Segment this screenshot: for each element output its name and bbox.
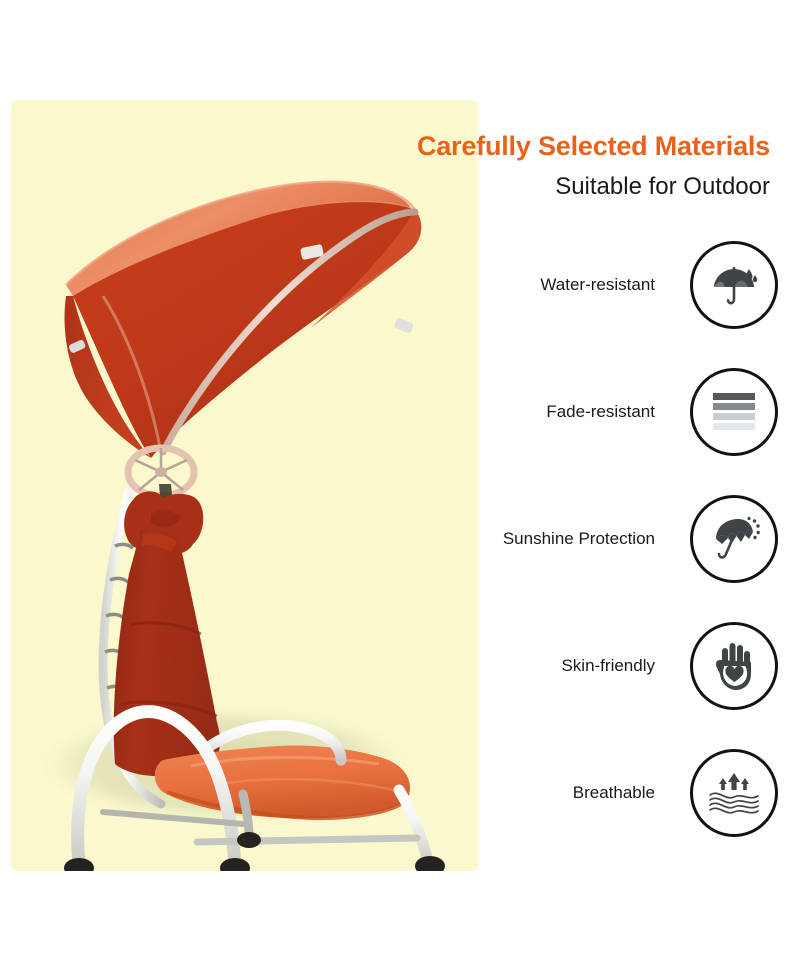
product-photo-panel (11, 100, 478, 871)
feature-row-skin-friendly: Skin-friendly (478, 622, 800, 710)
feature-label: Fade-resistant (546, 402, 655, 422)
feature-icon-circle (690, 622, 778, 710)
feature-label: Skin-friendly (561, 656, 655, 676)
product-illustration (11, 100, 478, 871)
feature-row-fade-resistant: Fade-resistant (478, 368, 800, 456)
feature-icon-circle (690, 368, 778, 456)
fading-bars-icon (711, 390, 757, 434)
feature-row-water-resistant: Water-resistant (478, 241, 800, 329)
feature-icon-circle (690, 241, 778, 329)
feature-list: Water-resistant Fade-resistant (478, 241, 800, 876)
canopy (65, 182, 422, 496)
hand-heart-icon (711, 640, 757, 692)
feature-label: Breathable (573, 783, 655, 803)
umbrella-sun-icon (708, 513, 760, 565)
page-subtitle: Suitable for Outdoor (555, 175, 770, 199)
feature-label: Sunshine Protection (503, 529, 655, 549)
feature-row-breathable: Breathable (478, 749, 800, 837)
feature-label: Water-resistant (540, 275, 655, 295)
feature-row-sunshine-protection: Sunshine Protection (478, 495, 800, 583)
umbrella-raindrops-icon (708, 259, 760, 311)
feature-icon-circle (690, 749, 778, 837)
info-column: Carefully Selected Materials Suitable fo… (478, 0, 800, 977)
page-title: Carefully Selected Materials (417, 133, 770, 160)
airflow-waves-icon (707, 771, 761, 815)
feature-icon-circle (690, 495, 778, 583)
